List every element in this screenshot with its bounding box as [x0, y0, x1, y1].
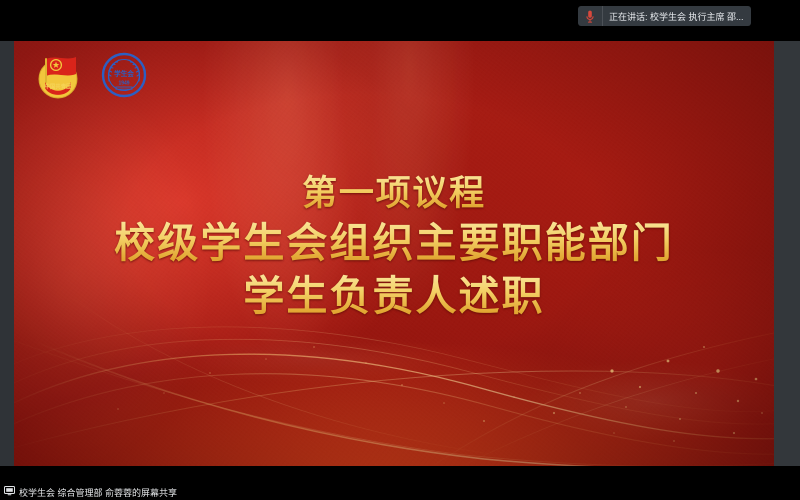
viewport-rail-right	[774, 41, 800, 466]
screen-share-viewport: 中国共青团 学生会 1949 第一项议程 校级学生会组织主要职能部门 学生负责	[0, 0, 800, 500]
speaking-microphone-icon	[578, 6, 603, 26]
slide-title-line-2: 校级学生会组织主要职能部门	[14, 217, 774, 270]
slide-title-line-3: 学生负责人述职	[14, 270, 774, 323]
shared-slide-content[interactable]: 中国共青团 学生会 1949 第一项议程 校级学生会组织主要职能部门 学生负责	[14, 41, 774, 466]
viewport-rail-left	[0, 41, 14, 466]
slide-logos: 中国共青团 学生会 1949	[32, 49, 148, 101]
slide-title-line-1: 第一项议程	[14, 171, 774, 217]
svg-text:学生会: 学生会	[114, 69, 134, 78]
slide-title-block: 第一项议程 校级学生会组织主要职能部门 学生负责人述职	[14, 171, 774, 323]
screen-share-label: 校学生会 综合管理部 俞蓉蓉的屏幕共享	[19, 486, 177, 499]
communist-youth-league-emblem-icon: 中国共青团	[32, 49, 84, 101]
active-speaker-indicator[interactable]: 正在讲话: 校学生会 执行主席 邵...	[578, 6, 751, 26]
screen-share-monitor-icon	[4, 483, 15, 500]
svg-text:中国共青团: 中国共青团	[45, 82, 73, 90]
university-seal-year: 1949	[118, 81, 129, 87]
university-seal-icon: 学生会 1949	[100, 51, 148, 99]
screen-share-status: 校学生会 综合管理部 俞蓉蓉的屏幕共享	[4, 483, 177, 500]
active-speaker-label: 正在讲话: 校学生会 执行主席 邵...	[609, 10, 744, 23]
